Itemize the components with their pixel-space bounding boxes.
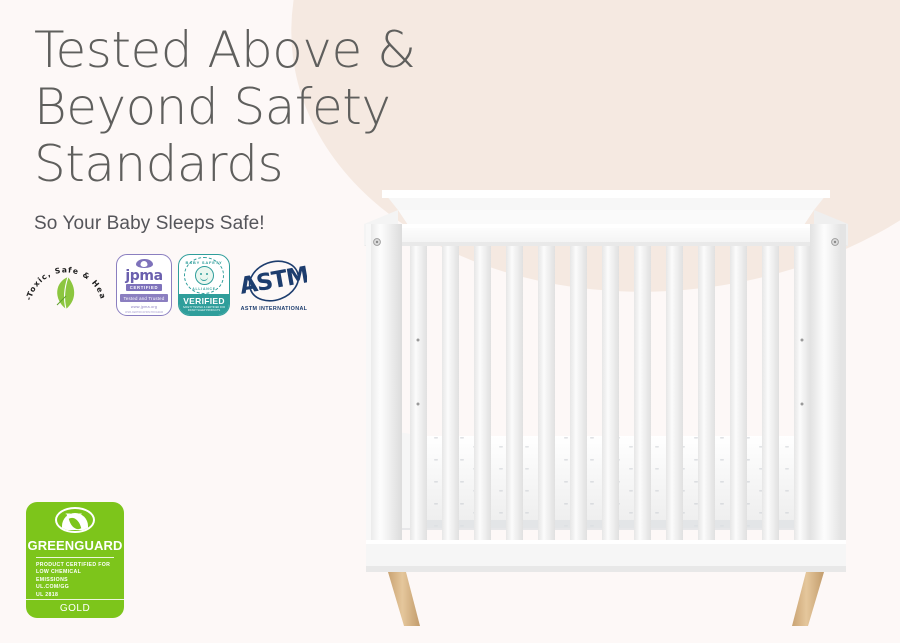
page-subtitle: So Your Baby Sleeps Safe! xyxy=(34,213,464,235)
badge-greenguard-gold: UL GREENGUARD PRODUCT CERTIFIED FOR LOW … xyxy=(26,502,124,618)
jpma-fine-print: JPMA CERTIFICATION PROGRAM xyxy=(120,311,168,313)
jpma-tagline: Tested and Trusted xyxy=(120,294,168,302)
bsa-banner: VERIFIED SAFETY TESTED & CERTIFIED FOR I… xyxy=(179,294,229,315)
astm-logo-icon: ASTM xyxy=(241,258,307,304)
jpma-url: www.jpma.org xyxy=(131,305,157,309)
badge-astm: ASTM ASTM INTERNATIONAL xyxy=(236,254,312,316)
page-title: Tested Above & Beyond Safety Standards xyxy=(34,22,464,193)
ul-mark-icon: UL xyxy=(55,507,95,533)
leaf-icon: Non-Toxic, Safe & Healthy xyxy=(22,248,110,322)
jpma-certified-tag: CERTIFIED xyxy=(126,284,162,291)
certification-badge-row: Non-Toxic, Safe & Healthy jpma CERTIFIED… xyxy=(22,248,312,322)
bsa-arc-top-text: BABY SAFETY xyxy=(185,260,223,265)
astm-subtitle: ASTM INTERNATIONAL xyxy=(241,306,308,312)
copy-block: Tested Above & Beyond Safety Standards S… xyxy=(34,22,464,235)
bsa-fine-print: SAFETY TESTED & CERTIFIED FOR INFANT SLE… xyxy=(179,306,229,312)
product-image-mini-crib xyxy=(352,168,860,630)
badge-non-toxic: Non-Toxic, Safe & Healthy xyxy=(22,248,110,322)
marketing-banner: Tested Above & Beyond Safety Standards S… xyxy=(0,0,900,643)
heart-icon xyxy=(136,259,153,268)
greenguard-level: GOLD xyxy=(26,603,124,614)
jpma-wordmark: jpma xyxy=(125,270,162,283)
bsa-arc-bottom-text: ALLIANCE xyxy=(185,287,223,291)
baby-face-icon: BABY SAFETY ALLIANCE xyxy=(184,257,224,294)
crib-illustration xyxy=(352,168,860,630)
bsa-verified-label: VERIFIED xyxy=(179,296,229,306)
greenguard-name: GREENGUARD xyxy=(28,538,123,553)
badge-baby-safety-alliance: BABY SAFETY ALLIANCE VERIFIED SAFETY TES… xyxy=(178,254,230,316)
badge-jpma: jpma CERTIFIED Tested and Trusted www.jp… xyxy=(116,254,172,316)
greenguard-fine-print: PRODUCT CERTIFIED FOR LOW CHEMICAL EMISS… xyxy=(36,562,114,599)
astm-wordmark: ASTM xyxy=(241,262,307,300)
